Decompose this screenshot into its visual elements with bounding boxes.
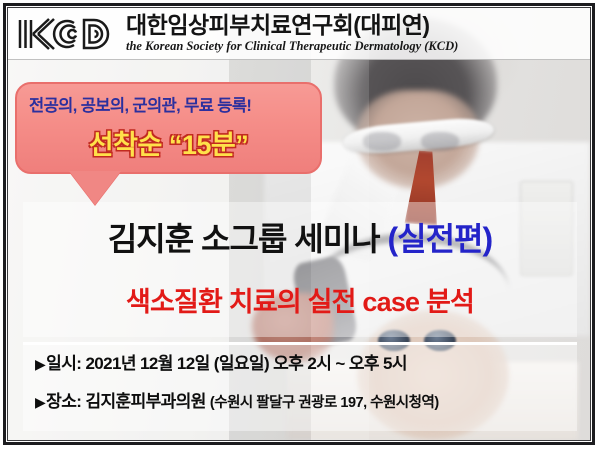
organization-name-korean: 대한임상피부치료연구회(대피연) (126, 14, 458, 37)
photo-goggle-lens-right (421, 132, 459, 150)
callout-free-registration-text: 전공의, 공보의, 군의관, 무료 등록! (29, 92, 310, 116)
registration-callout: 전공의, 공보의, 군의관, 무료 등록! 선착순 “15분” (15, 82, 322, 174)
callout-first-come-text: 선착순 “15분” (27, 123, 310, 162)
organization-name-english: the Korean Society for Clinical Therapeu… (126, 40, 458, 53)
seminar-title: 김지훈 소그룹 세미나 (실전편) (23, 214, 577, 260)
callout-bubble-tail (69, 171, 121, 205)
place-label: 장소: (46, 392, 81, 411)
date-value: 2021년 12월 12일 (일요일) 오후 2시 ~ 오후 5시 (85, 354, 406, 373)
title-band: 김지훈 소그룹 세미나 (실전편) 색소질환 치료의 실전 case 분석 (23, 202, 577, 337)
date-line: ▶일시: 2021년 12월 12일 (일요일) 오후 2시 ~ 오후 5시 (35, 355, 577, 373)
place-value: 김지훈피부과의원 (85, 392, 205, 411)
date-bullet-icon: ▶ (35, 356, 45, 372)
place-bullet-icon: ▶ (35, 394, 45, 410)
info-band: ▶일시: 2021년 12월 12일 (일요일) 오후 2시 ~ 오후 5시 ▶… (23, 342, 577, 431)
header-text-group: 대한임상피부치료연구회(대피연) the Korean Society for … (126, 14, 458, 53)
seminar-poster: 대한임상피부치료연구회(대피연) the Korean Society for … (0, 0, 600, 450)
kcd-logo-icon (16, 14, 120, 54)
seminar-title-main: 김지훈 소그룹 세미나 (108, 221, 380, 257)
place-line: ▶장소: 김지훈피부과의원 (수원시 팔달구 권광로 197, 수원시청역) (35, 393, 577, 411)
poster-header: 대한임상피부치료연구회(대피연) the Korean Society for … (8, 8, 590, 60)
seminar-subtitle: 색소질환 치료의 실전 case 분석 (23, 280, 577, 319)
seminar-title-accent: (실전편) (388, 221, 493, 257)
callout-bubble: 전공의, 공보의, 군의관, 무료 등록! 선착순 “15분” (15, 82, 322, 174)
date-label: 일시: (46, 354, 81, 373)
place-detail: (수원시 팔달구 권광로 197, 수원시청역) (210, 395, 439, 411)
